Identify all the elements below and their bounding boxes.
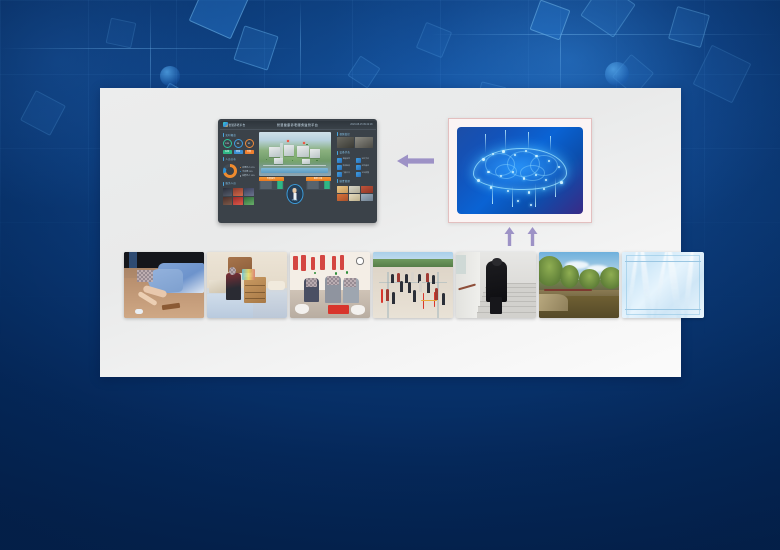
- service-tasks-panel[interactable]: 服务工单: [306, 177, 331, 190]
- device-label: 跌倒监测: [343, 166, 350, 168]
- device-icon: [356, 158, 361, 163]
- photo-strip: [124, 252, 704, 318]
- meal-thumb[interactable]: [361, 194, 372, 201]
- camera-feed[interactable]: [355, 137, 373, 148]
- dashboard-logo-text: 智慧养老平台: [229, 123, 246, 127]
- distribution-legend: 自理老人 62% 半自理 24% 失能老人 14%: [240, 166, 255, 179]
- privacy-mosaic: [306, 278, 317, 287]
- overview-stat-rings: 128 96 32: [223, 139, 256, 148]
- device-panel-label: 设备状态: [340, 150, 351, 154]
- photo-activity-room[interactable]: [290, 252, 370, 318]
- device-icon: [337, 158, 342, 163]
- meal-thumb[interactable]: [337, 194, 348, 201]
- photo-stairs-walking[interactable]: [456, 252, 536, 318]
- device-icon: [337, 172, 342, 177]
- device-label: SOS报警: [362, 173, 369, 175]
- device-label: 门磁开关: [343, 173, 350, 175]
- dashboard-right-column: 视频监控 设备状态 智能床垫 定位手环 跌倒监测 红外感应 门磁开关: [337, 132, 373, 201]
- distribution-donut-chart: [223, 164, 237, 178]
- legend-item: 半自理 24%: [240, 170, 255, 173]
- device-icon-grid: 智能床垫 定位手环 跌倒监测 红外感应 门磁开关 SOS报警: [337, 158, 373, 177]
- privacy-mosaic: [344, 278, 356, 287]
- alarm-row[interactable]: [260, 187, 283, 188]
- legend-dot-icon: [240, 167, 242, 169]
- staff-panel-label: 服务人员: [226, 181, 237, 185]
- camera-panel-label: 视频监控: [340, 132, 351, 136]
- legend-dot-icon: [240, 171, 242, 173]
- legend-label: 自理老人 62%: [242, 166, 255, 169]
- up-arrow-1-icon: [504, 227, 515, 246]
- camera-feed-grid: [337, 137, 373, 148]
- chip-alarm: 告警: [245, 150, 254, 154]
- device-item[interactable]: 定位手环: [356, 158, 373, 163]
- overview-stat-chips: 在线 离线 告警: [223, 150, 256, 154]
- task-row[interactable]: [307, 187, 330, 188]
- meal-panel-label: 膳食管理: [340, 179, 351, 183]
- privacy-mosaic: [327, 276, 339, 285]
- up-arrow-group: [504, 227, 538, 246]
- legend-item: 自理老人 62%: [240, 166, 255, 169]
- device-item[interactable]: 智能床垫: [337, 158, 354, 163]
- staff-thumb[interactable]: [244, 188, 254, 196]
- device-item[interactable]: 红外感应: [356, 165, 373, 170]
- legend-label: 失能老人 14%: [242, 174, 255, 177]
- meal-thumbnail-grid: [337, 186, 373, 201]
- stat-ring-offline: 96: [234, 139, 243, 148]
- ai-brain-frame: [448, 118, 592, 223]
- dashboard-left-column: 实时概览 128 96 32 在线 离线 告警 人员分布: [223, 133, 256, 206]
- meal-thumb[interactable]: [337, 186, 348, 193]
- staff-panel-header: 服务人员: [223, 181, 256, 187]
- device-item[interactable]: 跌倒监测: [337, 165, 354, 170]
- distribution-panel-label: 人员分布: [226, 157, 237, 161]
- device-icon: [356, 165, 361, 170]
- privacy-mosaic: [137, 270, 153, 282]
- content-card: 智慧养老平台 智慧健康养老服务监管平台 2023-08-15 09:42:18 …: [100, 88, 681, 377]
- avatar-head: [292, 188, 297, 193]
- staff-thumb[interactable]: [244, 197, 254, 205]
- photo-park-lake[interactable]: [539, 252, 619, 318]
- staff-thumb[interactable]: [223, 197, 233, 205]
- alarm-events-panel[interactable]: 告警事件: [259, 177, 284, 190]
- meal-thumb[interactable]: [361, 186, 372, 193]
- distribution-panel-header: 人员分布: [223, 157, 256, 163]
- legend-label: 半自理 24%: [242, 170, 253, 173]
- meal-thumb[interactable]: [349, 186, 360, 193]
- photo-fall-detection[interactable]: [124, 252, 204, 318]
- dashboard-title: 智慧健康养老服务监管平台: [277, 122, 318, 127]
- staff-thumbnail-grid: [223, 188, 256, 205]
- avatar-caption: 王秀英: [291, 199, 297, 202]
- device-label: 定位手环: [362, 159, 369, 161]
- logo-mark-icon: [223, 122, 228, 127]
- staff-thumb[interactable]: [233, 197, 243, 205]
- overview-panel-label: 实时概览: [226, 133, 237, 137]
- chip-online: 在线: [223, 150, 232, 154]
- privacy-mosaic: [229, 267, 236, 275]
- photo-abstract-blue[interactable]: [622, 252, 704, 318]
- device-icon: [356, 172, 361, 177]
- device-item[interactable]: 门磁开关: [337, 172, 354, 177]
- stat-ring-alarm: 32: [245, 139, 254, 148]
- device-label: 智能床垫: [343, 159, 350, 161]
- resident-avatar[interactable]: 王秀英: [286, 184, 303, 204]
- stat-ring-online: 128: [223, 139, 232, 148]
- dashboard-clock: 2023-08-15 09:42:18: [350, 123, 372, 126]
- legend-dot-icon: [240, 175, 242, 177]
- up-arrow-2-icon: [527, 227, 538, 246]
- dashboard-center-column: 告警事件 服务工单: [259, 132, 331, 191]
- meal-thumb[interactable]: [349, 194, 360, 201]
- slide-canvas: 智慧养老平台 智慧健康养老服务监管平台 2023-08-15 09:42:18 …: [0, 0, 780, 550]
- monitoring-dashboard-screenshot[interactable]: 智慧养老平台 智慧健康养老服务监管平台 2023-08-15 09:42:18 …: [218, 119, 377, 223]
- campus-3d-map-view[interactable]: [259, 132, 331, 176]
- camera-feed[interactable]: [337, 137, 355, 148]
- dashboard-logo: 智慧养老平台: [223, 122, 246, 127]
- legend-item: 失能老人 14%: [240, 174, 255, 177]
- photo-bedroom-resident[interactable]: [207, 252, 287, 318]
- device-icon: [337, 165, 342, 170]
- chip-offline: 离线: [234, 150, 243, 154]
- device-label: 红外感应: [362, 166, 369, 168]
- staff-thumb[interactable]: [223, 188, 233, 196]
- meal-panel-header: 膳食管理: [337, 179, 373, 185]
- device-panel-header: 设备状态: [337, 150, 373, 156]
- ai-brain-image[interactable]: [457, 127, 583, 214]
- photo-courtyard-crowd[interactable]: [373, 252, 453, 318]
- abstract-inner-frame: [626, 255, 700, 314]
- left-arrow-icon: [397, 153, 435, 169]
- dashboard-header: 智慧养老平台 智慧健康养老服务监管平台 2023-08-15 09:42:18: [220, 121, 376, 130]
- overview-panel-header: 实时概览: [223, 133, 256, 139]
- staff-thumb[interactable]: [233, 188, 243, 196]
- device-item[interactable]: SOS报警: [356, 172, 373, 177]
